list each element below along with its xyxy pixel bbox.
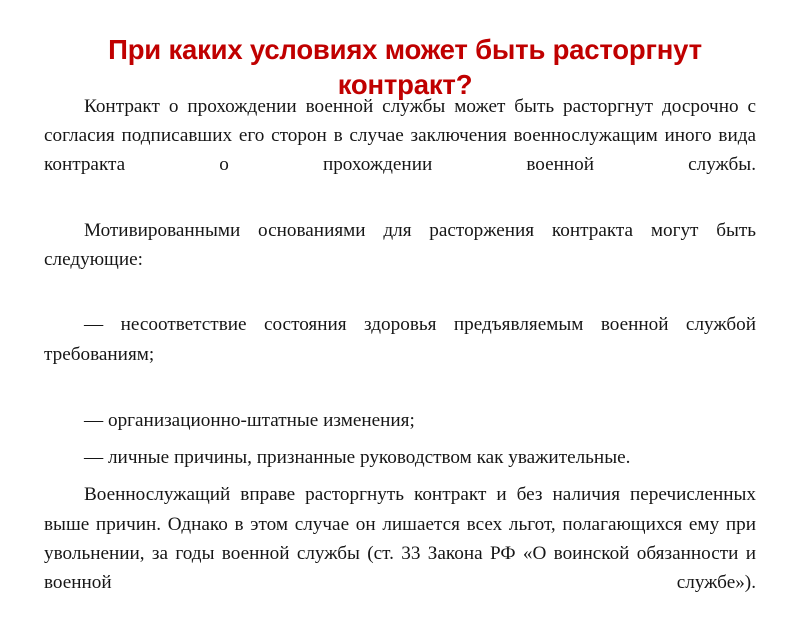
slide-body: Контракт о прохождении военной службы мо… (44, 92, 756, 626)
dash-item-staffing: — организационно-штатные изменения; (44, 406, 756, 435)
body-paragraph-1: Контракт о прохождении военной службы мо… (44, 92, 756, 209)
body-paragraph-3: Военнослужащий вправе расторгнуть контра… (44, 480, 756, 626)
dash-item-health: — несоответствие состояния здоровья пред… (44, 310, 756, 398)
dash-item-personal: — личные причины, признанные руководство… (44, 443, 756, 472)
slide-canvas: При каких условиях может быть расторгнут… (0, 0, 800, 600)
body-paragraph-2: Мотивированными основаниями для расторже… (44, 216, 756, 304)
